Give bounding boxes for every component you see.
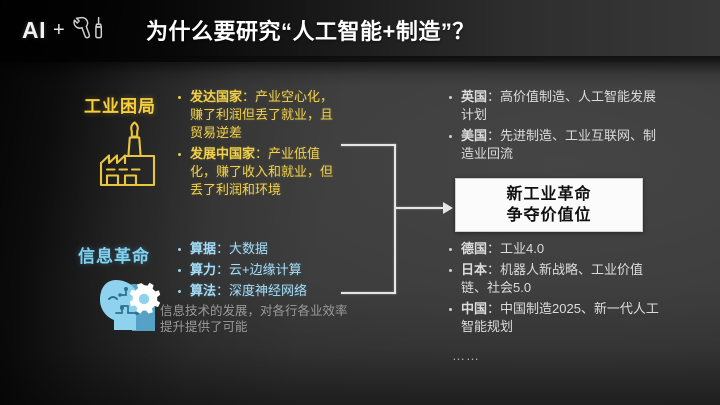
list-item: 算据：大数据 — [175, 240, 347, 258]
list-item: 中国：中国制造2025、新一代人工智能规划 — [446, 300, 668, 336]
bullet-text-right-bottom-2: 中国：中国制造2025、新一代人工智能规划 — [461, 301, 659, 334]
list-item: 德国：工业4.0 — [446, 240, 668, 258]
value-callout-box: 新工业革命 争夺价值位 — [455, 178, 643, 232]
bullet-list-right-bottom: 德国：工业4.0 日本：机器人新战略、工业价值链、社会5.0 中国：中国制造20… — [446, 240, 668, 339]
connector-line-vertical — [394, 144, 396, 294]
list-item: 日本：机器人新战略、工业价值链、社会5.0 — [446, 261, 668, 297]
value-callout-line2: 争夺价值位 — [506, 205, 591, 226]
bullet-text-industry-1: 发展中国家：产业低值化，赚了收入和就业，但丢了利润和环境 — [190, 146, 333, 197]
list-item: 算法：深度神经网络 — [175, 282, 347, 300]
bullet-text-right-bottom-0: 德国：工业4.0 — [461, 241, 544, 256]
brand-logo: AI + — [22, 15, 106, 46]
value-callout-line1: 新工业革命 — [506, 184, 591, 205]
brand-ai-label: AI — [22, 17, 46, 44]
bullet-list-industry: 发达国家：产业空心化，赚了利润但丢了就业，且贸易逆差 发展中国家：产业低值化，赚… — [175, 88, 343, 202]
connector-arrow-line — [396, 207, 446, 209]
right-list-ellipsis: …… — [452, 348, 480, 363]
section-heading-industry: 工业困局 — [84, 92, 156, 117]
bullet-text-information-1: 算力：云+边缘计算 — [190, 262, 302, 277]
list-item: 美国：先进制造、工业互联网、制造业回流 — [446, 127, 664, 163]
wrench-icon — [72, 15, 106, 46]
bullet-text-information-0: 算据：大数据 — [190, 241, 268, 256]
bullet-text-industry-0: 发达国家：产业空心化，赚了利润但丢了就业，且贸易逆差 — [190, 89, 333, 140]
bullet-text-right-bottom-1: 日本：机器人新战略、工业价值链、社会5.0 — [461, 262, 643, 295]
brand-plus-label: + — [53, 19, 65, 42]
information-note: 信息技术的发展，对各行各业效率提升提供了可能 — [160, 303, 352, 335]
section-heading-information: 信息革命 — [78, 242, 150, 267]
bullet-text-right-top-0: 英国：高价值制造、人工智能发展计划 — [461, 89, 656, 122]
bullet-list-information: 算据：大数据 算力：云+边缘计算 算法：深度神经网络 — [175, 240, 347, 303]
bullet-list-right-top: 英国：高价值制造、人工智能发展计划 美国：先进制造、工业互联网、制造业回流 — [446, 88, 664, 166]
list-item: 发展中国家：产业低值化，赚了收入和就业，但丢了利润和环境 — [175, 145, 343, 199]
list-item: 发达国家：产业空心化，赚了利润但丢了就业，且贸易逆差 — [175, 88, 343, 142]
connector-line-bottom — [341, 292, 396, 294]
list-item: 算力：云+边缘计算 — [175, 261, 347, 279]
bullet-text-information-2: 算法：深度神经网络 — [190, 283, 307, 298]
connector-arrow-head-icon — [443, 202, 453, 214]
connector-line-top — [341, 144, 396, 146]
factory-icon — [96, 116, 174, 197]
slide-canvas: AI + 为什么要研究“人工智能+制造”？ 工业困局 — [0, 0, 720, 405]
page-title: 为什么要研究“人工智能+制造”？ — [146, 14, 475, 46]
list-item: 英国：高价值制造、人工智能发展计划 — [446, 88, 664, 124]
bullet-text-right-top-1: 美国：先进制造、工业互联网、制造业回流 — [461, 128, 656, 161]
